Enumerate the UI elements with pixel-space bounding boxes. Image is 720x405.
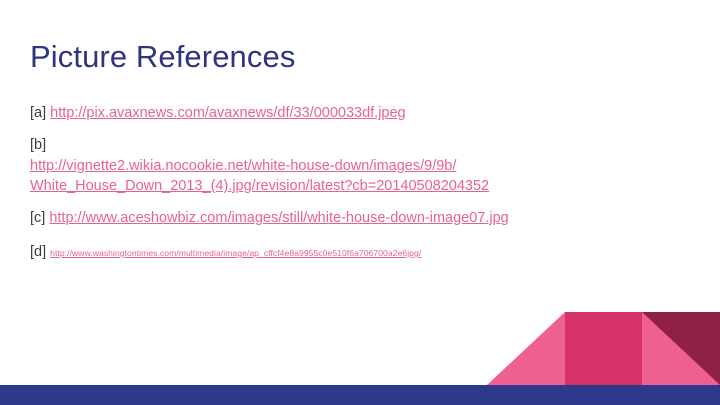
reference-link-a[interactable]: http://pix.avaxnews.com/avaxnews/df/33/0… (50, 105, 405, 121)
reference-link-c[interactable]: http://www.aceshowbiz.com/images/still/w… (49, 210, 508, 226)
reference-tag-c: [c] (30, 210, 45, 226)
page-title: Picture References (30, 38, 295, 76)
reference-link-b-line1[interactable]: http://vignette2.wikia.nocookie.net/whit… (30, 156, 670, 176)
reference-link-d[interactable]: http://www.washingtontimes.com/multimedi… (50, 248, 421, 258)
reference-tag-b: [b] (30, 136, 670, 155)
slide-picture-references: Picture References [a] http://pix.avaxne… (0, 0, 720, 405)
reference-item-a: [a] http://pix.avaxnews.com/avaxnews/df/… (30, 104, 670, 123)
reference-tag-a: [a] (30, 105, 46, 121)
reference-link-b-line2[interactable]: White_House_Down_2013_(4).jpg/revision/l… (30, 176, 670, 196)
bottom-accent-bar (0, 385, 720, 405)
reference-item-d: [d] http://www.washingtontimes.com/multi… (30, 243, 670, 263)
deco-left-pink-triangle (487, 312, 565, 385)
reference-list: [a] http://pix.avaxnews.com/avaxnews/df/… (30, 104, 670, 263)
deco-center-magenta-rect (565, 312, 642, 385)
reference-item-b: [b] http://vignette2.wikia.nocookie.net/… (30, 136, 670, 196)
reference-item-c: [c] http://www.aceshowbiz.com/images/sti… (30, 209, 670, 228)
reference-tag-d: [d] (30, 244, 46, 260)
